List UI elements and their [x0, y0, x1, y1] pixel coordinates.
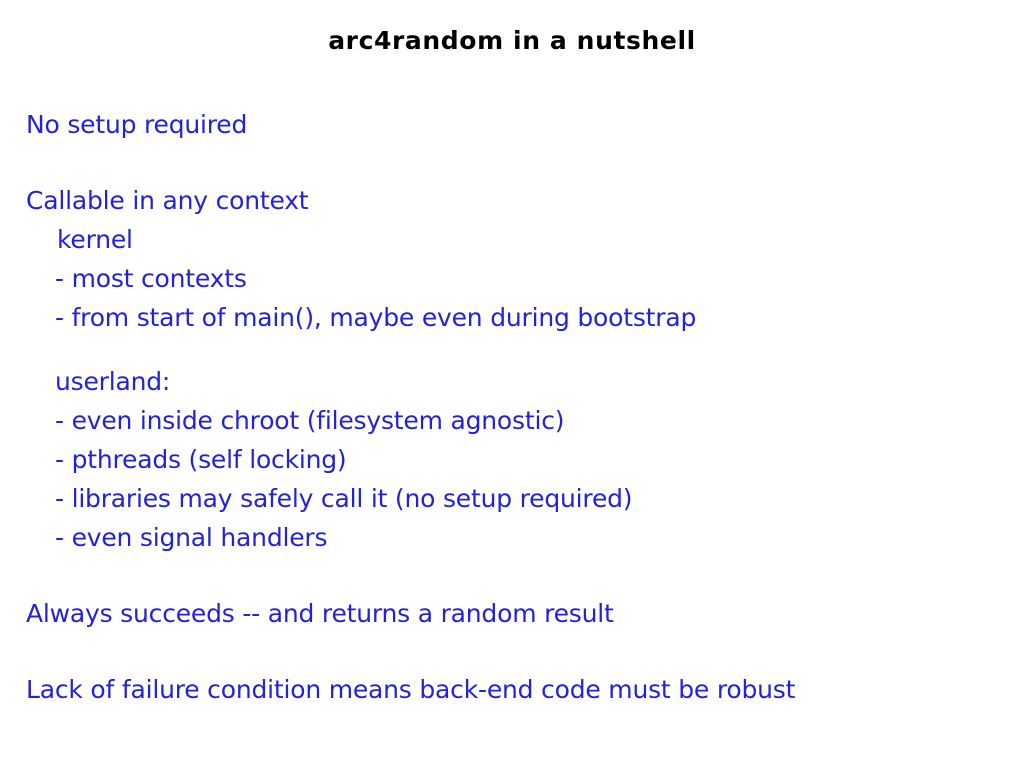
body-line: No setup required — [26, 112, 986, 138]
page-title: arc4random in a nutshell — [0, 26, 1024, 55]
body-line: - from start of main(), maybe even durin… — [55, 305, 986, 331]
body-line: - pthreads (self locking) — [55, 447, 986, 473]
spacer — [26, 138, 986, 188]
spacer — [26, 551, 986, 601]
spacer — [26, 627, 986, 677]
content-block-callable: Callable in any context kernel - most co… — [26, 188, 986, 331]
body-line: - even signal handlers — [55, 525, 986, 551]
content-block-userland: userland: - even inside chroot (filesyst… — [26, 369, 986, 551]
body-line: - most contexts — [55, 266, 986, 292]
content-block-no-setup: No setup required — [26, 112, 986, 138]
body-line: Callable in any context — [26, 188, 986, 214]
body-line: Always succeeds -- and returns a random … — [26, 601, 986, 627]
slide-body: No setup required Callable in any contex… — [26, 112, 986, 703]
content-block-robust: Lack of failure condition means back-end… — [26, 677, 986, 703]
content-block-always-succeeds: Always succeeds -- and returns a random … — [26, 601, 986, 627]
body-line: kernel — [57, 227, 986, 253]
body-line: userland: — [55, 369, 986, 395]
spacer — [26, 331, 986, 369]
body-line: Lack of failure condition means back-end… — [26, 677, 986, 703]
body-line: - libraries may safely call it (no setup… — [55, 486, 986, 512]
slide-canvas: arc4random in a nutshell No setup requir… — [0, 0, 1024, 768]
body-line: - even inside chroot (filesystem agnosti… — [55, 408, 986, 434]
